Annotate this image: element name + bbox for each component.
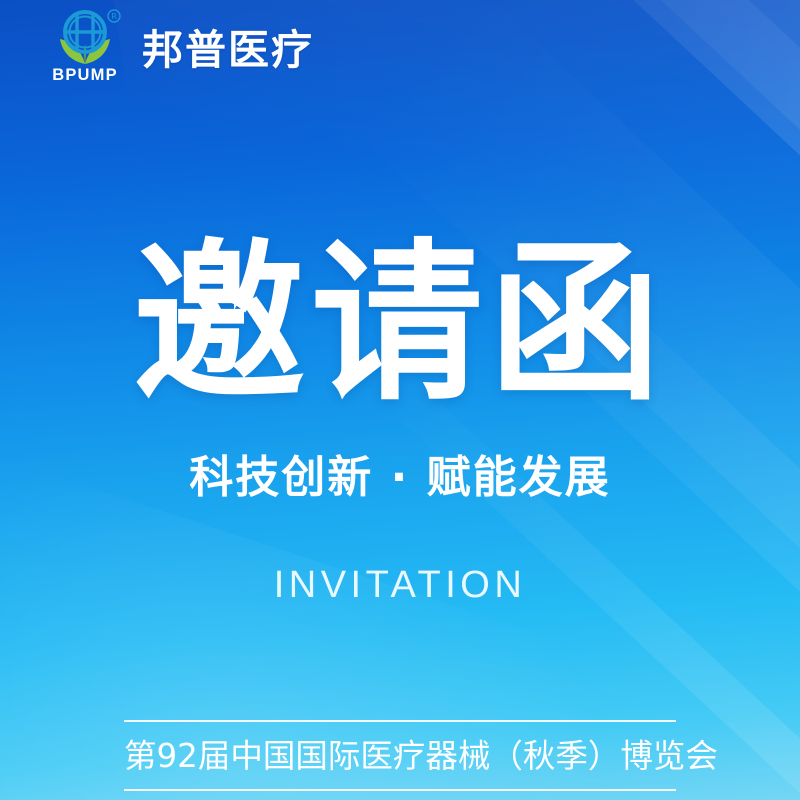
footer-rule-bottom [124, 789, 676, 791]
poster-center-content: 邀请函 科技创新 · 赋能发展 INVITATION [0, 0, 800, 604]
poster-latin-title: INVITATION [0, 566, 800, 604]
poster-subtitle: 科技创新 · 赋能发展 [0, 456, 800, 500]
bpump-flower-globe-icon: R [46, 8, 124, 70]
brand-header: R BPUMP 邦普医疗 [44, 8, 314, 90]
logo-wordmark: BPUMP [52, 67, 118, 84]
invitation-poster: R BPUMP 邦普医疗 邀请函 科技创新 · 赋能发展 INVITATION … [0, 0, 800, 800]
event-name: 第92届中国国际医疗器械（秋季）博览会 [124, 722, 676, 789]
page-title-headline: 邀请函 [0, 238, 800, 410]
poster-footer: 第92届中国国际医疗器械（秋季）博览会 [124, 720, 676, 791]
svg-text:R: R [111, 12, 117, 21]
company-logo: R BPUMP [44, 8, 126, 90]
company-name: 邦普医疗 [142, 30, 314, 71]
